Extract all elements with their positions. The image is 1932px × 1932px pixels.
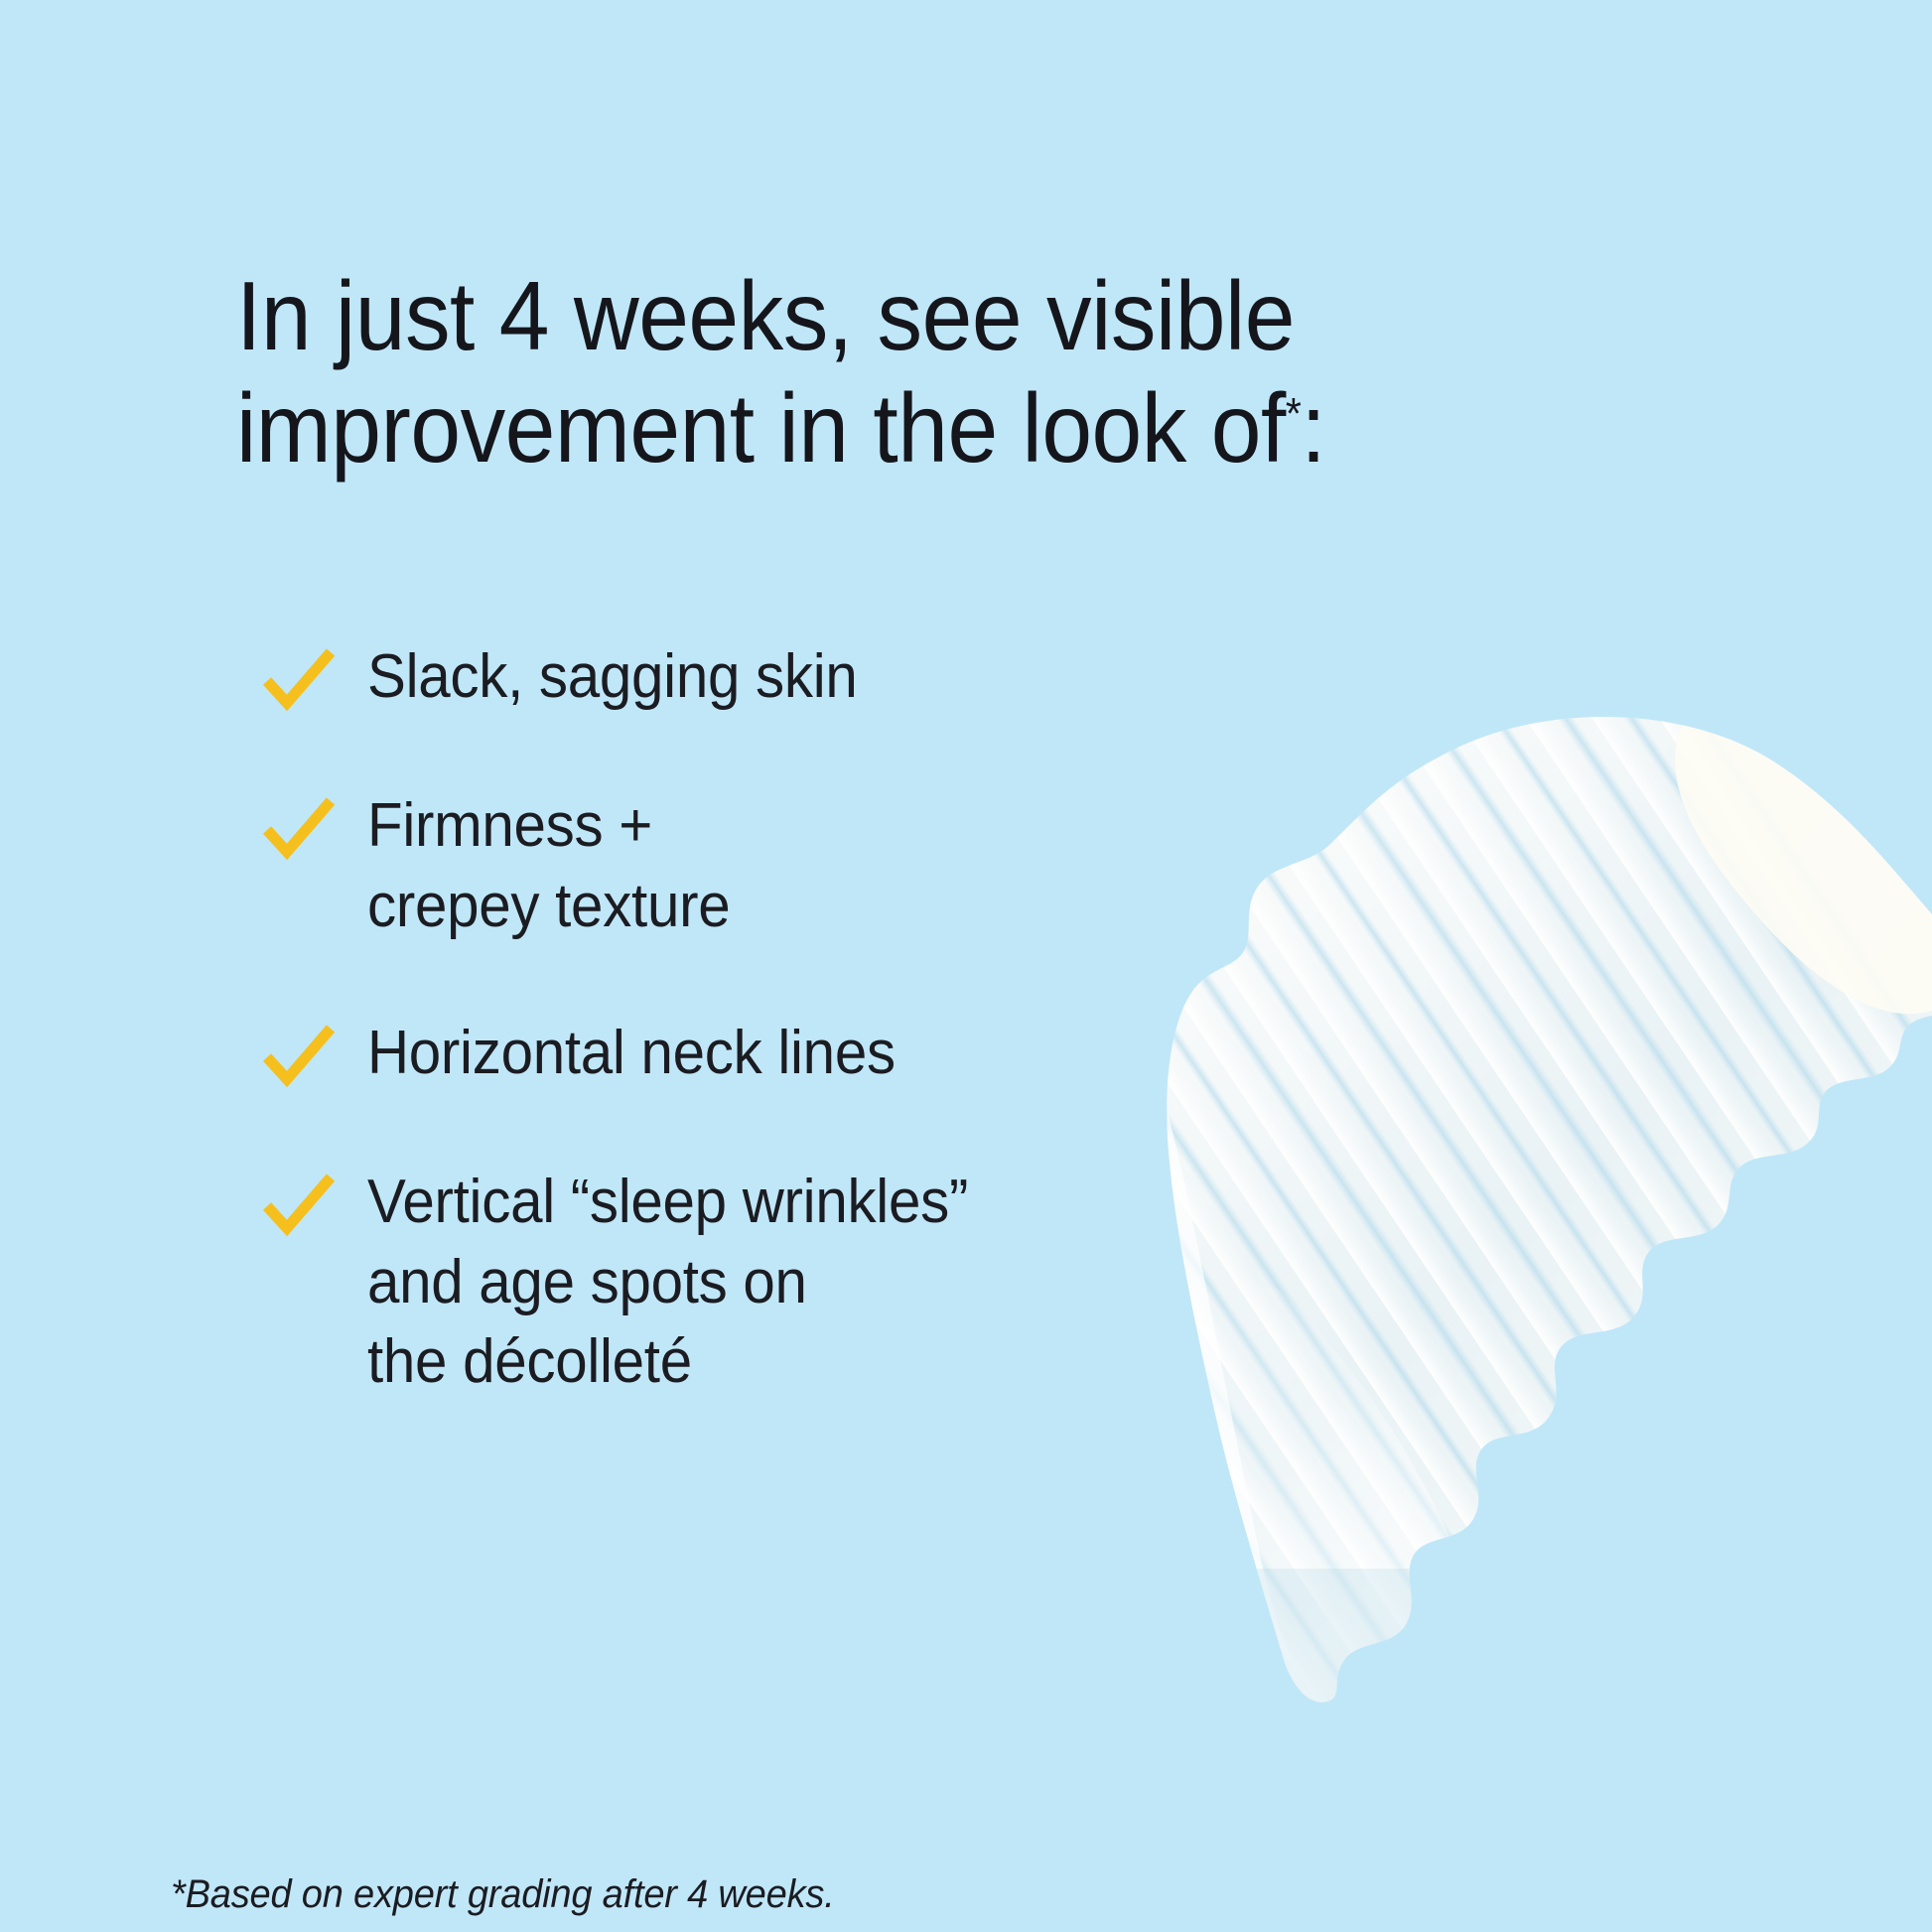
promo-poster: In just 4 weeks, see visible improvement…	[0, 0, 1932, 1932]
list-item: Firmness + crepey texture	[260, 784, 1273, 946]
headline-line-2: improvement in the look of*:	[236, 373, 1325, 483]
headline-line-2-text: improvement in the look of	[236, 373, 1286, 483]
benefits-checklist: Slack, sagging skin Firmness + crepey te…	[260, 635, 1273, 1403]
checkmark-icon	[260, 641, 338, 719]
headline-line-1: In just 4 weeks, see visible	[236, 261, 1295, 370]
list-item-label: Slack, sagging skin	[367, 635, 858, 718]
list-item: Vertical “sleep wrinkles” and age spots …	[260, 1161, 1273, 1403]
headline-colon: :	[1301, 373, 1325, 483]
list-item-label: Vertical “sleep wrinkles” and age spots …	[367, 1161, 968, 1403]
footnote-marker: *	[1286, 390, 1302, 439]
list-item: Horizontal neck lines	[260, 1012, 1273, 1095]
page-title: In just 4 weeks, see visible improvement…	[236, 260, 1576, 485]
checkmark-icon	[260, 790, 338, 868]
list-item-label: Firmness + crepey texture	[367, 784, 730, 946]
list-item: Slack, sagging skin	[260, 635, 1273, 719]
list-item-label: Horizontal neck lines	[367, 1012, 896, 1094]
checkmark-icon	[260, 1018, 338, 1095]
footnote-text: *Based on expert grading after 4 weeks.	[171, 1872, 835, 1917]
checkmark-icon	[260, 1167, 338, 1244]
